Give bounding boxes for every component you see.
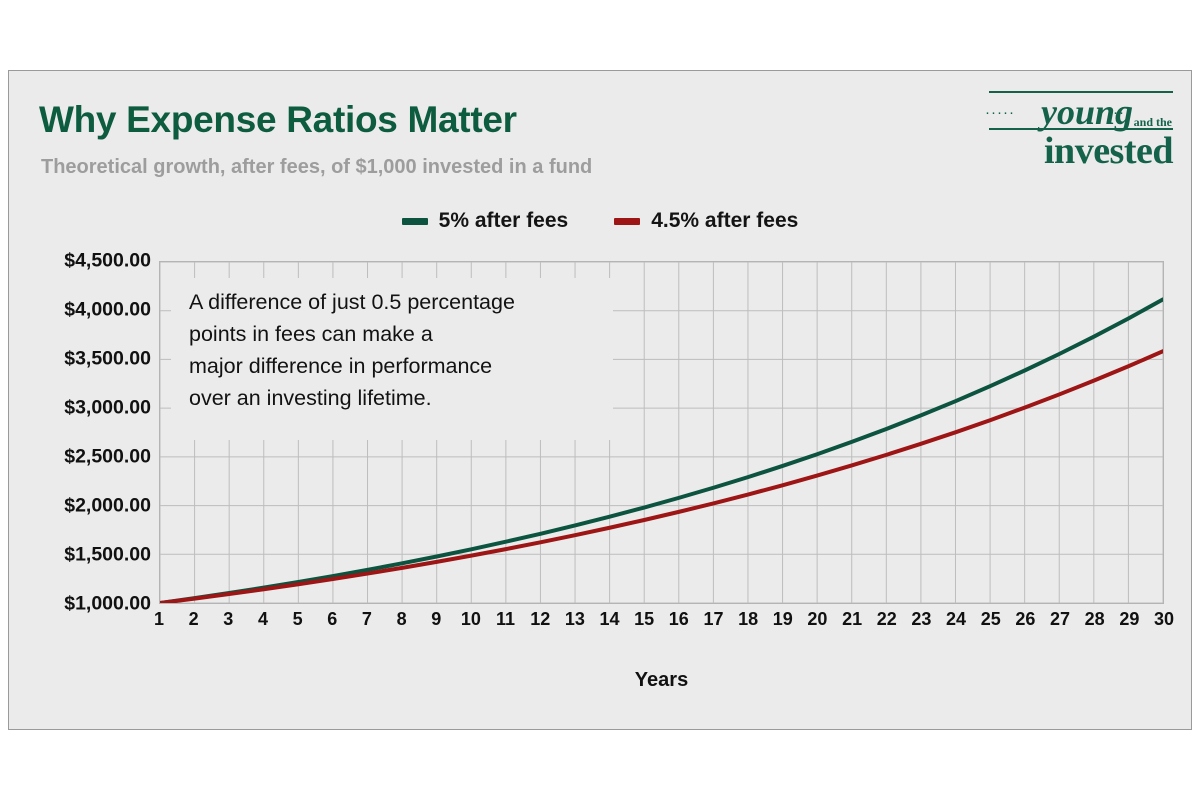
chart-annotation: A difference of just 0.5 percentagepoint… xyxy=(171,278,613,440)
x-tick-label: 16 xyxy=(669,609,689,630)
chart-legend: 5% after fees4.5% after fees xyxy=(9,209,1191,233)
logo-word-andthe: and the xyxy=(1134,116,1172,128)
legend-swatch-icon xyxy=(614,218,640,225)
y-tick-label: $1,000.00 xyxy=(64,593,151,616)
logo-dots-right: ···· xyxy=(1107,105,1131,120)
x-tick-label: 30 xyxy=(1154,609,1174,630)
annotation-line: points in fees can make a xyxy=(189,318,613,350)
x-tick-label: 18 xyxy=(738,609,758,630)
legend-swatch-icon xyxy=(402,218,428,225)
x-tick-label: 5 xyxy=(293,609,303,630)
y-tick-label: $4,000.00 xyxy=(64,299,151,322)
y-axis: $1,000.00$1,500.00$2,000.00$2,500.00$3,0… xyxy=(9,261,151,604)
x-tick-label: 27 xyxy=(1050,609,1070,630)
x-tick-label: 20 xyxy=(807,609,827,630)
x-tick-label: 7 xyxy=(362,609,372,630)
x-axis: 1234567891011121314151617181920212223242… xyxy=(159,609,1164,635)
logo-rule-top xyxy=(989,91,1173,93)
logo-word-invested: invested xyxy=(983,132,1173,170)
x-axis-title: Years xyxy=(159,669,1164,692)
y-tick-label: $2,000.00 xyxy=(64,495,151,518)
logo-top-row: ····· ···· young and the xyxy=(983,85,1173,131)
chart-subtitle: Theoretical growth, after fees, of $1,00… xyxy=(41,156,592,179)
annotation-line: over an investing lifetime. xyxy=(189,382,613,414)
x-tick-label: 2 xyxy=(189,609,199,630)
x-tick-label: 9 xyxy=(431,609,441,630)
x-tick-label: 6 xyxy=(327,609,337,630)
logo-dots-left: ····· xyxy=(985,105,1015,120)
y-tick-label: $2,500.00 xyxy=(64,446,151,469)
x-tick-label: 8 xyxy=(397,609,407,630)
legend-item: 4.5% after fees xyxy=(614,209,798,233)
x-tick-label: 1 xyxy=(154,609,164,630)
x-tick-label: 23 xyxy=(911,609,931,630)
x-tick-label: 11 xyxy=(496,609,515,630)
annotation-line: major difference in performance xyxy=(189,350,613,382)
legend-label: 4.5% after fees xyxy=(651,209,798,233)
x-tick-label: 21 xyxy=(842,609,862,630)
brand-logo: ····· ···· young and the invested xyxy=(983,85,1173,169)
x-tick-label: 29 xyxy=(1119,609,1139,630)
y-tick-label: $4,500.00 xyxy=(64,250,151,273)
y-tick-label: $3,500.00 xyxy=(64,348,151,371)
x-tick-label: 13 xyxy=(565,609,585,630)
annotation-line: A difference of just 0.5 percentage xyxy=(189,286,613,318)
chart-panel: Why Expense Ratios Matter Theoretical gr… xyxy=(8,70,1192,730)
x-tick-label: 3 xyxy=(223,609,233,630)
x-tick-label: 12 xyxy=(530,609,550,630)
x-tick-label: 17 xyxy=(703,609,723,630)
x-tick-label: 19 xyxy=(773,609,793,630)
x-tick-label: 15 xyxy=(634,609,654,630)
x-tick-label: 28 xyxy=(1085,609,1105,630)
y-tick-label: $1,500.00 xyxy=(64,544,151,567)
x-tick-label: 25 xyxy=(981,609,1001,630)
x-tick-label: 24 xyxy=(946,609,966,630)
x-tick-label: 10 xyxy=(461,609,481,630)
y-tick-label: $3,000.00 xyxy=(64,397,151,420)
x-tick-label: 26 xyxy=(1015,609,1035,630)
x-tick-label: 22 xyxy=(877,609,897,630)
page-title: Why Expense Ratios Matter xyxy=(39,99,517,141)
legend-item: 5% after fees xyxy=(402,209,569,233)
x-tick-label: 14 xyxy=(600,609,620,630)
x-tick-label: 4 xyxy=(258,609,268,630)
legend-label: 5% after fees xyxy=(439,209,569,233)
